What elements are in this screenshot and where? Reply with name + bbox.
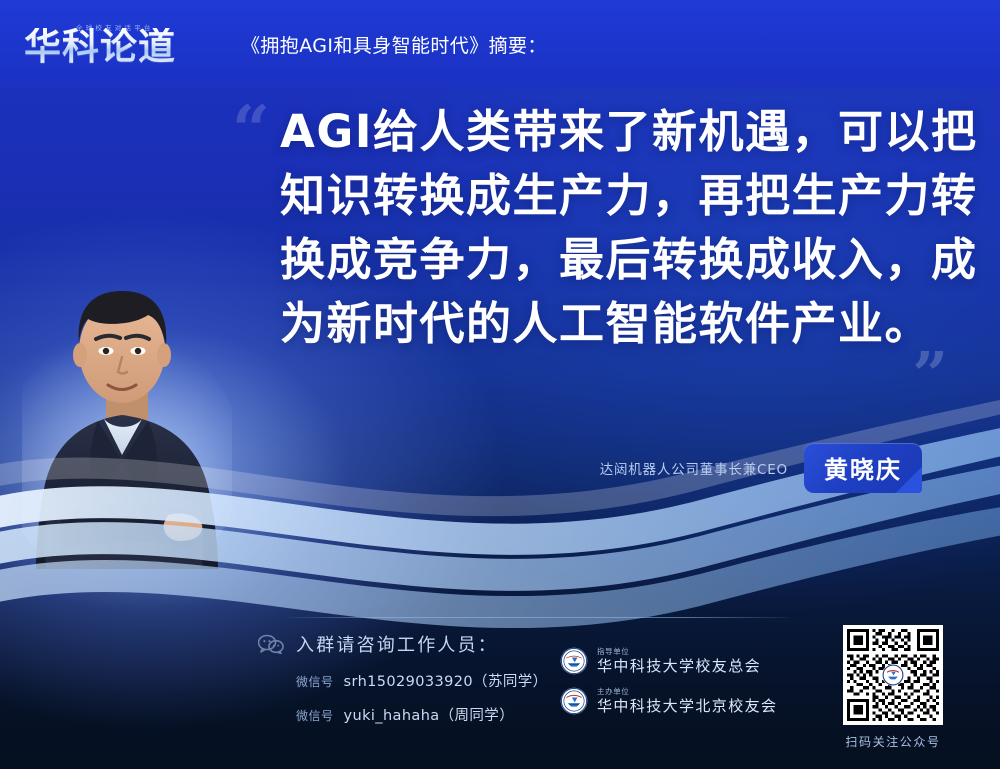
quote-block: “ AGI给人类带来了新机遇，可以把 知识转换成生产力，再把生产力转 换成竞争力… (228, 100, 968, 356)
speaker-role: 达闼机器人公司董事长兼CEO (600, 458, 788, 478)
quote-line: AGI给人类带来了新机遇，可以把 (280, 100, 968, 164)
contact-label: 微信号 (296, 707, 334, 724)
contact-header: 入群请咨询工作人员： (258, 631, 548, 657)
organizations: 指导单位 华中科技大学校友总会 主办单位 华中科技大学北京校友会 (560, 647, 777, 727)
speaker-portrait (22, 239, 232, 569)
hust-beijing-seal-icon (560, 687, 588, 715)
quote-close-mark: ” (912, 352, 948, 399)
brand-logo: 全球校友对话平台 华科论道 (24, 16, 219, 72)
quote-line: 换成竞争力，最后转换成收入，成 (280, 228, 968, 292)
qr-caption: 扫码关注公众号 (838, 733, 948, 750)
organization-row: 指导单位 华中科技大学校友总会 (560, 647, 777, 675)
organization-kicker: 主办单位 (597, 688, 777, 696)
qr-center-logo (882, 664, 904, 686)
hust-seal-icon (560, 647, 588, 675)
quote-open-mark: “ (232, 106, 270, 156)
contact-label: 微信号 (296, 673, 334, 690)
poster-canvas: 全球校友对话平台 华科论道 《拥抱AGI和具身智能时代》摘要： (0, 0, 1000, 769)
footer: 入群请咨询工作人员： 微信号 srh15029033920（苏同学） 微信号 y… (0, 609, 1000, 769)
header-bar: 全球校友对话平台 华科论道 《拥抱AGI和具身智能时代》摘要： (0, 0, 1000, 88)
qr-code[interactable] (843, 625, 943, 725)
organization-text: 主办单位 华中科技大学北京校友会 (597, 688, 777, 715)
quote-line: 知识转换成生产力，再把生产力转 (280, 164, 968, 228)
organization-name: 华中科技大学北京校友会 (597, 698, 777, 715)
organization-kicker: 指导单位 (597, 648, 761, 656)
contact-row: 微信号 yuki_hahaha（周同学） (296, 704, 548, 725)
logo-wordmark: 华科论道 (24, 28, 176, 65)
contact-value[interactable]: srh15029033920（苏同学） (344, 670, 548, 691)
speaker-name-badge: 黄晓庆 (804, 443, 922, 493)
organization-row: 主办单位 华中科技大学北京校友会 (560, 687, 777, 715)
contact-row: 微信号 srh15029033920（苏同学） (296, 670, 548, 691)
contact-title: 入群请咨询工作人员： (296, 631, 498, 657)
contact-section: 入群请咨询工作人员： 微信号 srh15029033920（苏同学） 微信号 y… (258, 631, 548, 725)
wechat-icon (258, 634, 284, 654)
attribution: 达闼机器人公司董事长兼CEO 黄晓庆 (600, 443, 922, 493)
quote-lines: AGI给人类带来了新机遇，可以把 知识转换成生产力，再把生产力转 换成竞争力，最… (280, 100, 968, 356)
footer-divider (288, 617, 788, 618)
organization-text: 指导单位 华中科技大学校友总会 (597, 648, 761, 675)
page-title: 《拥抱AGI和具身智能时代》摘要： (241, 31, 547, 58)
contact-value[interactable]: yuki_hahaha（周同学） (344, 704, 515, 725)
qr-section: 扫码关注公众号 (838, 625, 948, 750)
quote-line: 为新时代的人工智能软件产业。 (280, 292, 968, 356)
organization-name: 华中科技大学校友总会 (597, 658, 761, 675)
